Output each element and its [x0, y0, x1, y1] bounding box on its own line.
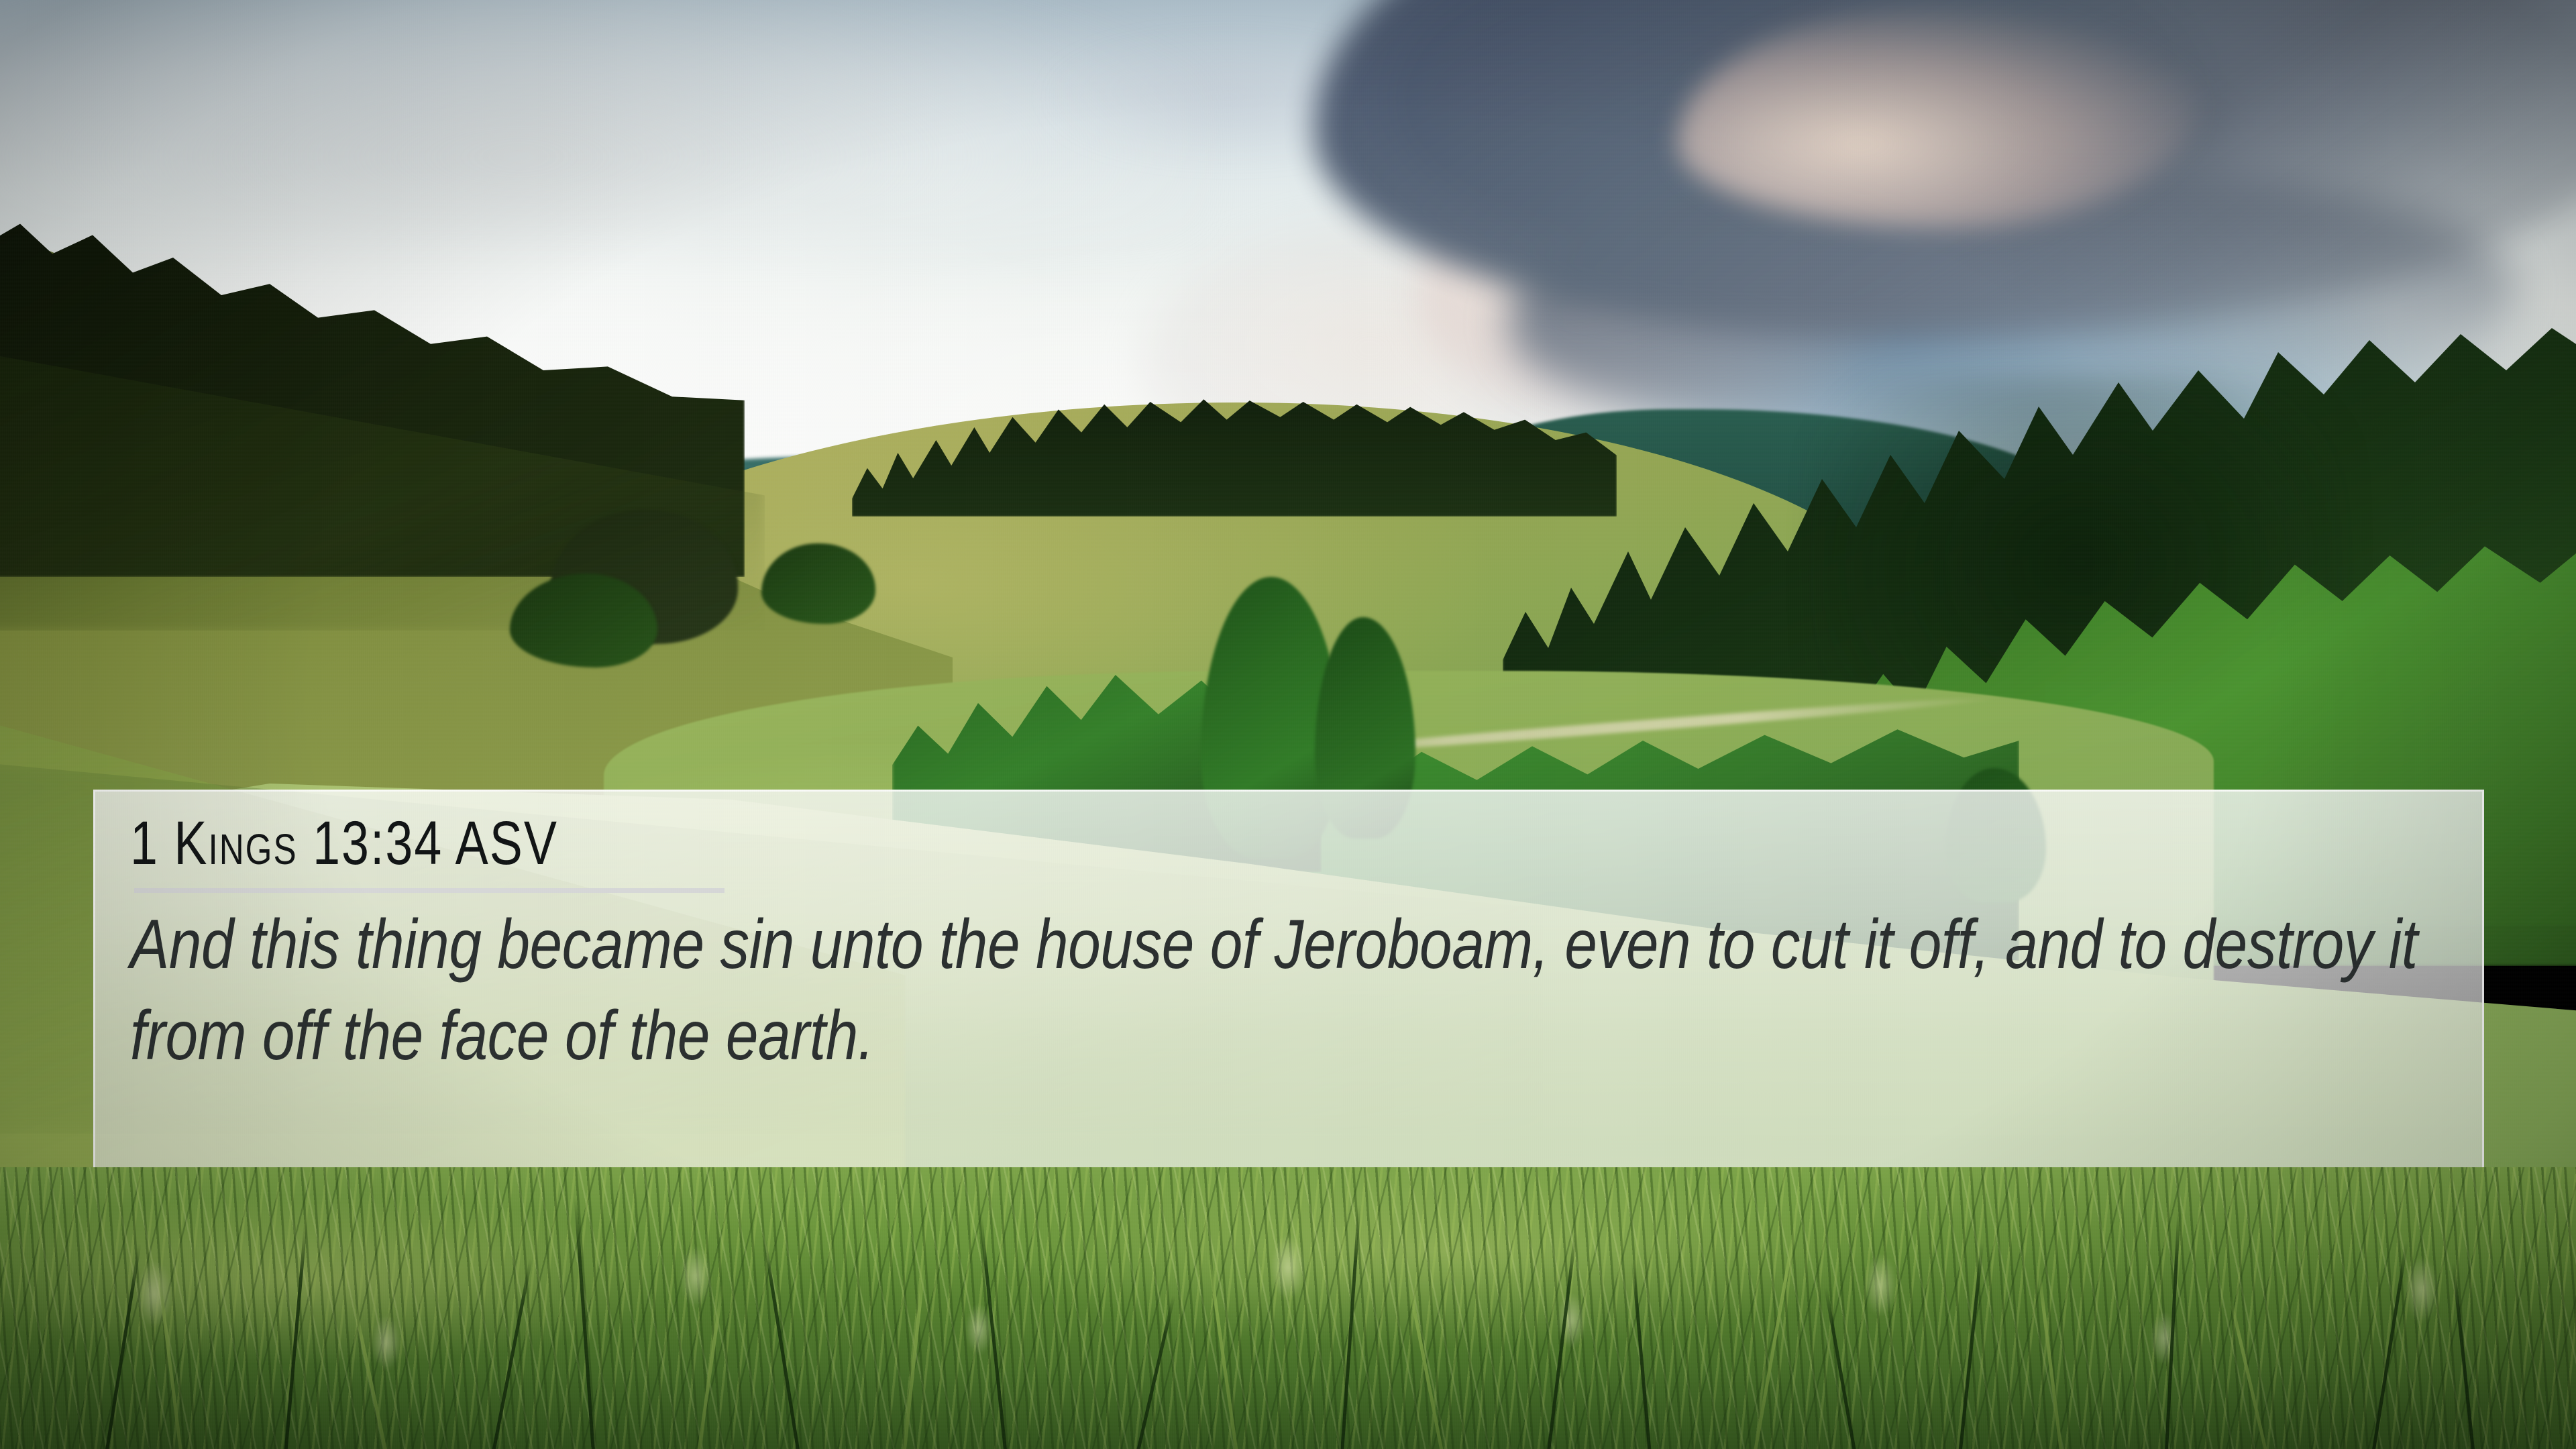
verse-text: And this thing became sin unto the house…	[130, 900, 2447, 1081]
verse-reference-underline	[134, 888, 724, 893]
foreground-grass-band	[0, 1167, 2576, 1449]
grass-vignette	[0, 1248, 2576, 1449]
verse-reference-block: 1 Kings 13:34 ASV	[130, 810, 811, 877]
wallpaper-canvas: 1 Kings 13:34 ASV And this thing became …	[0, 0, 2576, 1449]
verse-reference: 1 Kings 13:34 ASV	[130, 810, 675, 877]
cloud-soft-left	[0, 0, 1207, 241]
